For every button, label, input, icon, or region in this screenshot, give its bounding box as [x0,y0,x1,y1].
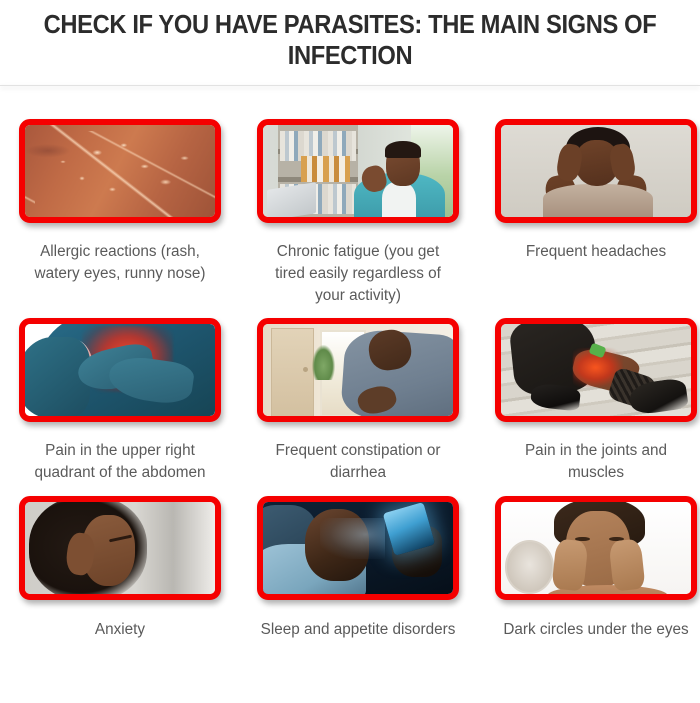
symptom-image-frame[interactable] [495,496,697,600]
symptoms-row: Allergic reactions (rash, watery eyes, r… [0,119,700,306]
symptom-card-constipation-diarrhea[interactable]: Frequent constipation or diarrhea [257,318,459,483]
abdominal-pain-photo [25,324,215,416]
header-divider [0,85,700,86]
dark-circles-woman-photo [501,502,691,594]
symptom-card-allergic-reactions[interactable]: Allergic reactions (rash, watery eyes, r… [19,119,221,306]
symptom-caption: Allergic reactions (rash, watery eyes, r… [19,241,221,284]
symptom-image-frame[interactable] [19,119,221,223]
symptom-caption: Dark circles under the eyes [495,619,697,641]
symptom-image-frame[interactable] [495,119,697,223]
symptom-card-anxiety[interactable]: Anxiety [19,496,221,641]
symptom-card-upper-right-quadrant-pain[interactable]: Pain in the upper right quadrant of the … [19,318,221,483]
symptom-caption: Pain in the joints and muscles [495,440,697,483]
anxious-woman-photo [25,502,215,594]
knee-joint-pain-photo [501,324,691,416]
symptom-image-frame[interactable] [257,318,459,422]
symptom-card-chronic-fatigue[interactable]: Chronic fatigue (you get tired easily re… [257,119,459,306]
symptom-card-joint-muscle-pain[interactable]: Pain in the joints and muscles [495,318,697,483]
symptom-caption: Pain in the upper right quadrant of the … [19,440,221,483]
symptoms-grid: Allergic reactions (rash, watery eyes, r… [0,86,700,640]
symptom-image-frame[interactable] [495,318,697,422]
symptom-image-frame[interactable] [19,496,221,600]
symptom-caption: Frequent headaches [495,241,697,263]
symptom-caption: Frequent constipation or diarrhea [257,440,459,483]
books-shape [301,156,350,182]
symptom-image-frame[interactable] [257,496,459,600]
stomach-ache-man-photo [263,324,453,416]
symptom-image-frame[interactable] [257,119,459,223]
symptom-caption: Anxiety [19,619,221,641]
symptom-image-frame[interactable] [19,318,221,422]
page-title: CHECK IF YOU HAVE PARASITES: THE MAIN SI… [38,10,663,72]
symptom-card-frequent-headaches[interactable]: Frequent headaches [495,119,697,306]
symptom-card-sleep-appetite-disorders[interactable]: Sleep and appetite disorders [257,496,459,641]
symptom-card-dark-circles[interactable]: Dark circles under the eyes [495,496,697,641]
woman-headache-photo [501,125,691,217]
man-in-bed-with-phone-photo [263,502,453,594]
page-header: CHECK IF YOU HAVE PARASITES: THE MAIN SI… [0,0,700,86]
skin-rash-photo [25,125,215,217]
laptop-shape [267,182,316,217]
symptom-caption: Chronic fatigue (you get tired easily re… [257,241,459,306]
symptoms-row: Pain in the upper right quadrant of the … [0,318,700,483]
symptoms-row: Anxiety Sleep and appetite disorders [0,496,700,641]
symptom-caption: Sleep and appetite disorders [257,619,459,641]
yawning-man-photo [263,125,453,217]
person-shape [350,134,449,217]
